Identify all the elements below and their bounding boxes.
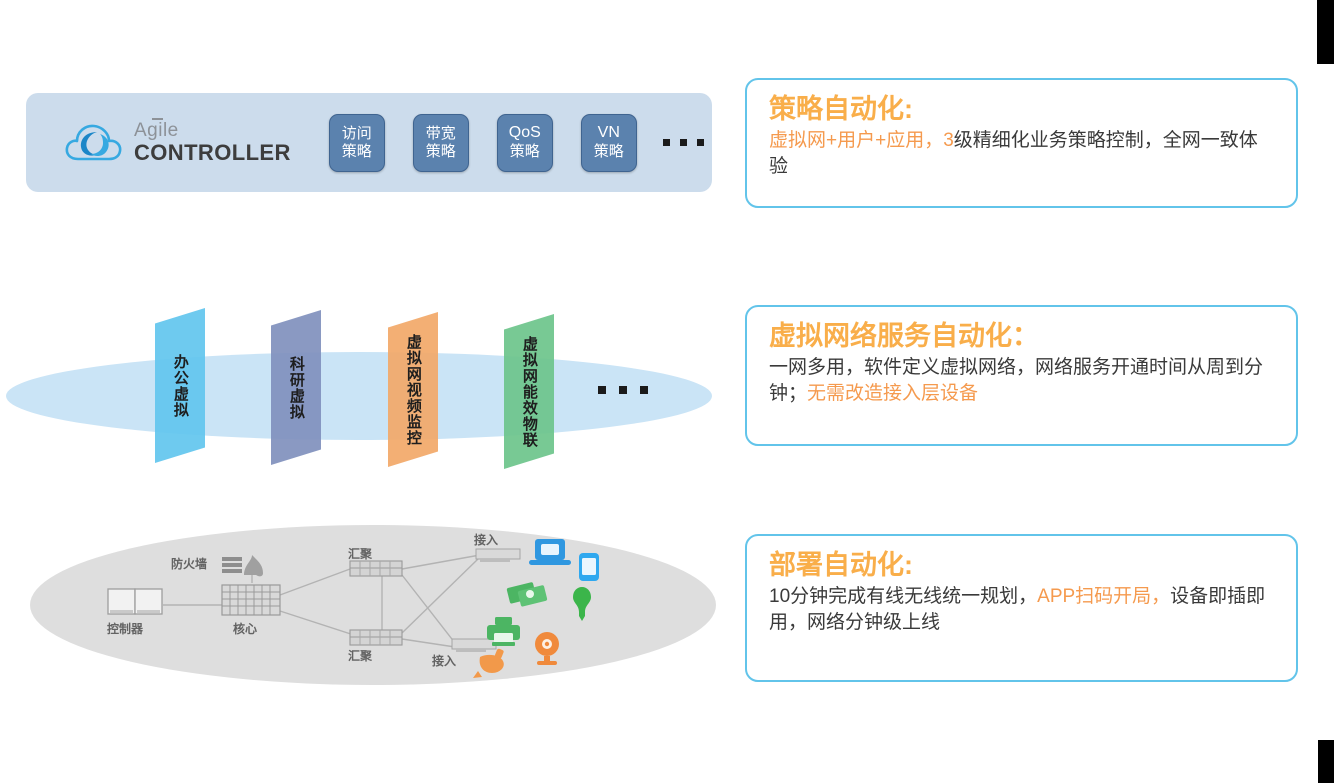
access-switch-bottom-icon	[452, 639, 496, 652]
slab-label-video-col1: 视频监控	[405, 382, 421, 446]
logo-controller-text: CONTROLLER	[134, 142, 291, 164]
policy-qos-line1: QoS	[509, 124, 541, 143]
money-icon	[506, 582, 547, 607]
topology-links-and-devices	[30, 525, 716, 685]
policy-bandwidth-line1: 带宽	[426, 125, 456, 143]
policy-button-access[interactable]: 访问 策略	[329, 114, 385, 172]
card-title-virtual-network-automation: 虚拟网络服务自动化：	[769, 321, 1274, 352]
tablet-icon	[579, 553, 599, 581]
dome-camera-icon	[473, 648, 504, 678]
agile-controller-wordmark: Agile CONTROLLER	[134, 121, 291, 164]
topology-label-aggregation-bottom: 汇聚	[348, 647, 372, 664]
bulb-icon	[573, 587, 591, 621]
virtual-network-slab-video: 视频监控 虚拟网	[388, 312, 438, 467]
topology-label-firewall: 防火墙	[171, 555, 207, 572]
card-2-highlight: 无需改造接入层设备	[807, 383, 978, 404]
ellipsis-dot	[697, 139, 704, 146]
card-title-policy-automation: 策略自动化:	[769, 94, 1274, 125]
card-1-highlight: 虚拟网+用户+应用，3	[769, 130, 954, 151]
feature-card-virtual-network-automation: 虚拟网络服务自动化： 一网多用，软件定义虚拟网络，网络服务开通时间从周到分钟；无…	[745, 305, 1298, 446]
feature-card-deployment-automation: 部署自动化: 10分钟完成有线无线统一规划，APP扫码开局，设备即插即用，网络分…	[745, 534, 1298, 682]
bottom-right-black-bar	[1318, 740, 1334, 783]
firewall-icon	[222, 555, 263, 576]
card-body-policy-automation: 虚拟网+用户+应用，3级精细化业务策略控制，全网一致体验	[769, 128, 1274, 180]
topology-label-access-top: 接入	[474, 531, 498, 548]
virtual-network-slab-iot: 能效物联 虚拟网	[504, 314, 554, 469]
topology-label-core: 核心	[233, 620, 257, 637]
policy-button-bandwidth[interactable]: 带宽 策略	[413, 114, 469, 172]
topology-links	[163, 555, 480, 647]
card-title-deployment-automation: 部署自动化:	[769, 550, 1274, 581]
aggregation-switch-bottom-icon	[350, 630, 402, 645]
ellipsis-dot	[619, 386, 627, 394]
ellipsis-dot	[680, 139, 687, 146]
card-body-virtual-network-automation: 一网多用，软件定义虚拟网络，网络服务开通时间从周到分钟；无需改造接入层设备	[769, 355, 1274, 407]
topology-label-aggregation-top: 汇聚	[348, 545, 372, 562]
card-body-deployment-automation: 10分钟完成有线无线统一规划，APP扫码开局，设备即插即用，网络分钟级上线	[769, 584, 1274, 636]
virtual-network-slab-office: 办公虚拟	[155, 308, 205, 463]
cloud-swirl-icon	[64, 119, 124, 167]
virtual-network-more-ellipsis[interactable]	[598, 386, 648, 394]
policy-button-qos[interactable]: QoS 策略	[497, 114, 553, 172]
policy-button-vn[interactable]: VN 策略	[581, 114, 637, 172]
access-switch-top-icon	[476, 549, 520, 562]
aggregation-switch-top-icon	[350, 561, 402, 576]
slab-label-research: 科研虚拟	[271, 310, 321, 465]
policy-bandwidth-line2: 策略	[426, 143, 456, 161]
virtual-network-diagram	[0, 300, 716, 490]
logo-agile-text: Agile	[134, 120, 179, 141]
network-topology-diagram: 控制器 防火墙 核心 汇聚 汇聚 接入 接入	[30, 525, 716, 685]
laptop-icon	[529, 539, 571, 565]
card-3-highlight: APP扫码开局，	[1037, 586, 1170, 607]
topology-label-controller: 控制器	[107, 620, 143, 637]
slab-label-iot-col2: 虚拟网	[521, 336, 537, 384]
policy-qos-line2: 策略	[510, 143, 540, 161]
agile-controller-bar: Agile CONTROLLER 访问 策略 带宽 策略 QoS 策略 VN 策…	[26, 93, 712, 192]
slab-label-iot-col1: 能效物联	[521, 384, 537, 448]
feature-card-policy-automation: 策略自动化: 虚拟网+用户+应用，3级精细化业务策略控制，全网一致体验	[745, 78, 1298, 208]
slab-label-research-col1: 科研虚拟	[288, 356, 304, 420]
slab-label-video-col2: 虚拟网	[405, 334, 421, 382]
webcam-icon	[535, 632, 559, 665]
agile-controller-logo: Agile CONTROLLER	[64, 119, 291, 167]
policy-vn-line1: VN	[598, 124, 620, 143]
slab-label-office: 办公虚拟	[155, 308, 205, 463]
ellipsis-dot	[598, 386, 606, 394]
slab-label-iot: 能效物联 虚拟网	[504, 314, 554, 469]
policy-vn-line2: 策略	[594, 143, 624, 161]
ellipsis-dot	[663, 139, 670, 146]
core-switch-icon	[222, 585, 280, 615]
virtual-network-slab-research: 科研虚拟	[271, 310, 321, 465]
policy-access-line2: 策略	[342, 143, 372, 161]
physical-network-ellipse	[6, 352, 712, 440]
policy-access-line1: 访问	[342, 125, 372, 143]
top-right-black-bar	[1317, 0, 1334, 64]
slab-label-office-col1: 办公虚拟	[172, 354, 188, 418]
card-3-plain-1: 10分钟完成有线无线统一规划，	[769, 586, 1037, 607]
controller-device-icon	[108, 589, 162, 614]
topology-label-access-bottom: 接入	[432, 652, 456, 669]
policy-more-ellipsis[interactable]	[663, 139, 704, 146]
ellipsis-dot	[640, 386, 648, 394]
slab-label-video: 视频监控 虚拟网	[388, 312, 438, 467]
